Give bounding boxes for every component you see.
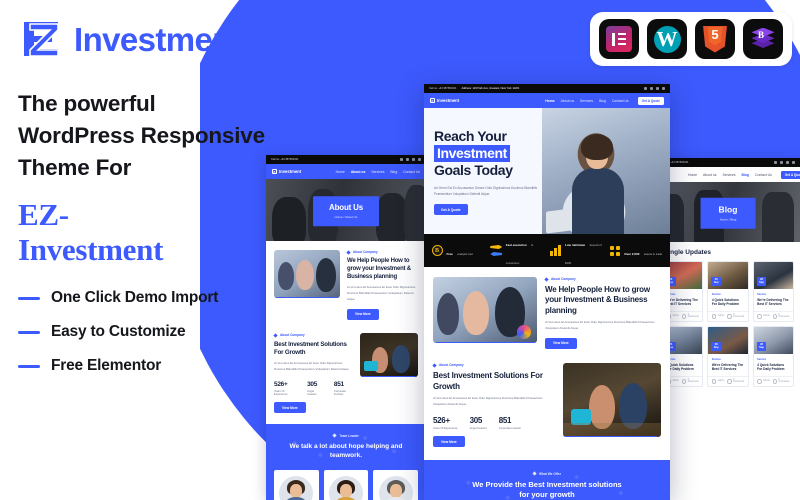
dash-icon [18,331,40,334]
mock-topbar: Call us: +91 987654321 [656,158,800,167]
product-title-line-1: EZ- [18,198,298,233]
team-card[interactable]: Jonathan White Business Consultant Lorem… [274,470,319,500]
nav-item-home[interactable]: Home [336,170,345,174]
list-item[interactable]: 26Sep Service 4 Quick Solutions For Dail… [707,261,748,322]
breadcrumb: Home / Blog [719,218,738,222]
tech-badge-group: W 5 B [590,12,792,66]
post-title: 4 Quick Solutions For Daily Problem [667,363,699,373]
hero-paragraph: Ad Herm Est Ex Accusamus Omare Odio Dign… [434,185,546,197]
avatar [329,476,363,500]
nav-links: Home About us Services Blog Contact Us [688,173,772,177]
post-date: 26Sep [757,277,767,286]
post-meta: Admin0 Comments [708,376,747,387]
list-item[interactable]: 26Sep Service We're Delivering The Best … [707,326,748,387]
headline-line-1: The powerful [18,88,298,120]
nav-item-services[interactable]: Services [371,170,384,174]
stats-group: 526+ Years Of Experience 305 Angel Inves… [433,416,555,430]
nav-item-blog[interactable]: Blog [599,99,606,103]
ez-monogram-icon: E [430,98,435,103]
nav-links: Home About us Services Blog Contact Us [545,99,628,103]
wordpress-badge[interactable]: W [647,19,687,59]
feature-label: One Click Demo Import [51,289,218,307]
post-thumbnail: 26Sep [754,262,793,289]
section-eyebrow: About Company [545,277,661,281]
nav-item-blog[interactable]: Blog [390,170,397,174]
team-card[interactable]: Jamie Miller Co-Founder Lorem ipsum dolo… [373,470,418,500]
bar-chart-icon [550,245,562,257]
list-item: Easy to Customize [18,323,298,341]
bitcoin-coin-icon: B [431,245,443,257]
nav-item-contact[interactable]: Contact Us [403,170,420,174]
topbar-phone: Call us: +91 987654321 [429,87,456,90]
page-hero-card: Blog Home / Blog [701,198,756,229]
section-heading: We Help People How to grow your Investme… [545,285,661,316]
post-title: We're Delivering The Best IT Services [757,298,789,308]
nav-item-home[interactable]: Home [688,173,697,177]
avatar [279,476,313,500]
stat-item: 851 Corporate Investor [499,416,521,430]
exchange-arrows-icon [490,245,502,257]
home-page-mockup[interactable]: Call us: +91 987654321 Address: 123 Park… [424,84,670,500]
feature-list: One Click Demo Import Easy to Customize … [18,289,298,375]
elementor-badge[interactable] [599,19,639,59]
page-hero: Blog Home / Blog [656,182,800,242]
stat-item: 526+ Years Of Experience [433,416,458,430]
nav-item-services[interactable]: Services [722,173,735,177]
view-more-button[interactable]: View More [274,402,306,413]
social-icons [400,158,421,161]
nav-item-contact[interactable]: Contact Us [612,99,629,103]
section-paragraph: At Vero Eos Et Accusamus Et Iusto Odio D… [433,396,555,407]
post-meta: Admin0 Comments [754,376,793,387]
elementor-icon [606,26,632,52]
avatar [379,476,413,500]
feature-strip: B Free analysis tool Fast execution & co… [424,234,670,267]
section-eyebrow: About Company [433,363,555,367]
post-date: 26Sep [757,342,767,351]
feature-strip-item: Over 2,500 assets to trade [609,242,663,260]
nav-item-services[interactable]: Services [580,99,593,103]
section-eyebrow: Team Leader [276,434,416,438]
section-paragraph: At Vero Eos Et Accusamus Et Iusto Odio D… [347,285,418,302]
mock-navbar: Home About us Services Blog Contact Us G… [656,167,800,182]
solutions-photo [563,363,661,437]
post-category: Service [667,293,699,296]
post-date: 26Sep [711,342,721,351]
band-heading: We Provide the Best Investment solutions… [434,480,660,500]
nav-item-about[interactable]: About us [351,170,366,174]
hero-copy: Reach Your Investment Goals Today Ad Her… [434,128,562,216]
nav-logo[interactable]: E Investment [430,98,459,103]
blog-page-mockup[interactable]: Call us: +91 987654321 Home About us Ser… [656,158,800,500]
page-hero-title: About Us [329,203,363,212]
feature-strip-item: Fast execution & conversion [490,233,544,269]
post-category: Service [667,358,699,361]
post-title: 4 Quick Solutions For Daily Problem [757,363,789,373]
section-paragraph: At Vero Eos Et Accusamus Et Iusto Odio D… [545,320,661,331]
feature-label: Easy to Customize [51,323,185,341]
post-thumbnail: 26Sep [708,262,747,289]
section-title: Single Updates [656,242,800,261]
feature-strip-item: B Free analysis tool [431,242,485,260]
hero-highlight: Investment [434,145,510,162]
post-thumbnail: 26Sep [754,327,793,354]
list-item: Free Elementor [18,357,298,375]
nav-item-home[interactable]: Home [545,99,554,103]
view-more-button[interactable]: View More [545,338,577,349]
list-item[interactable]: 26Sep Service We're Delivering The Best … [753,261,794,322]
nav-item-contact[interactable]: Contact Us [755,173,772,177]
post-category: Service [712,293,744,296]
dash-icon [18,297,40,300]
stat-item: 305 Angel Investor [307,381,322,396]
post-meta: Admin0 Comments [708,311,747,322]
headline-line-3: Theme For [18,152,298,184]
team-card[interactable]: Sarah Andrew Co Founder Lorem ipsum dolo… [324,470,369,500]
wordpress-icon: W [654,26,681,53]
grid-dots-icon [609,245,621,257]
section-eyebrow: About Company [347,250,418,254]
post-category: Service [757,358,789,361]
get-quote-button[interactable]: Get A Quote [781,171,800,179]
mock-navbar: E Investment Home About us Services Blog… [424,93,670,108]
html5-badge[interactable]: 5 [695,19,735,59]
breadcrumb: Home / About Us [329,215,363,219]
page-title: The powerful WordPress Responsive Theme … [18,88,298,184]
page-hero-title: Blog [719,205,738,215]
list-item[interactable]: 26Sep Service 4 Quick Solutions For Dail… [753,326,794,387]
section-heading: Best Investment Solutions For Growth [433,371,555,392]
headline-line-2: WordPress Responsive [18,120,298,152]
product-title-line-2: Investment [18,233,298,268]
about-photo [433,277,537,343]
section-eyebrow: What We Offer [434,472,660,476]
social-icons[interactable] [644,87,665,90]
ez-monogram-icon [18,16,64,62]
promo-banner: Investment The powerful WordPress Respon… [0,0,800,500]
blog-grid: 26Sep Service We're Delivering The Best … [656,261,800,393]
feature-strip-item: Low minimum deposit of $100 [550,233,604,269]
hero-heading: Reach Your Investment Goals Today [434,128,562,179]
nav-item-about[interactable]: About us [561,99,574,103]
topbar-address: Address: 123 Park Ave, Greatest, New Yor… [461,87,519,90]
solutions-section: About Company Best Investment Solutions … [424,359,670,459]
post-title: 4 Quick Solutions For Daily Problem [712,298,744,308]
team-grid: Jonathan White Business Consultant Lorem… [266,470,426,500]
post-thumbnail: 26Sep [708,327,747,354]
nav-links: Home About us Services Blog Contact Us [336,170,420,174]
nav-item-blog[interactable]: Blog [741,173,749,177]
dash-icon [18,365,40,368]
section-heading: We Help People How to grow your Investme… [347,258,418,281]
band-heading: We talk a lot about hope helping and tea… [276,442,416,461]
page-hero-card: About Us Home / About Us [313,196,379,226]
html5-icon: 5 [703,26,727,53]
post-title: We're Delivering The Best IT Services [667,298,699,308]
get-quote-button[interactable]: Get A Quote [638,97,664,105]
bootstrap-icon: B [750,27,777,52]
view-more-button[interactable]: View More [347,309,379,320]
solutions-photo [360,333,418,377]
stat-item: 305 Angel Investor [470,416,487,430]
team-band: Team Leader We talk a lot about hope hel… [266,424,426,471]
post-title: We're Delivering The Best IT Services [712,363,744,373]
offer-band: What We Offer We Provide the Best Invest… [424,460,670,500]
get-quote-button[interactable]: Get A Quote [434,204,468,215]
social-icons [774,161,795,164]
post-meta: Admin0 Comments [754,311,793,322]
about-section: About Company We Help People How to grow… [424,267,670,359]
brand-name: Investment [74,23,242,56]
bootstrap-badge[interactable]: B [743,19,783,59]
nav-item-about[interactable]: About us [703,173,716,177]
list-item: One Click Demo Import [18,289,298,307]
brand-lockup: Investment [18,16,298,62]
left-content-column: Investment The powerful WordPress Respon… [18,16,298,391]
feature-label: Free Elementor [51,357,161,375]
product-title: EZ- Investment [18,198,298,267]
stat-item: 851 Corporate Investor [334,381,353,396]
hero-section: Reach Your Investment Goals Today Ad Her… [424,108,670,234]
post-category: Service [712,358,744,361]
post-category: Service [757,293,789,296]
view-more-button[interactable]: View More [433,436,465,447]
post-date: 26Sep [711,277,721,286]
mock-topbar: Call us: +91 987654321 Address: 123 Park… [424,84,670,93]
